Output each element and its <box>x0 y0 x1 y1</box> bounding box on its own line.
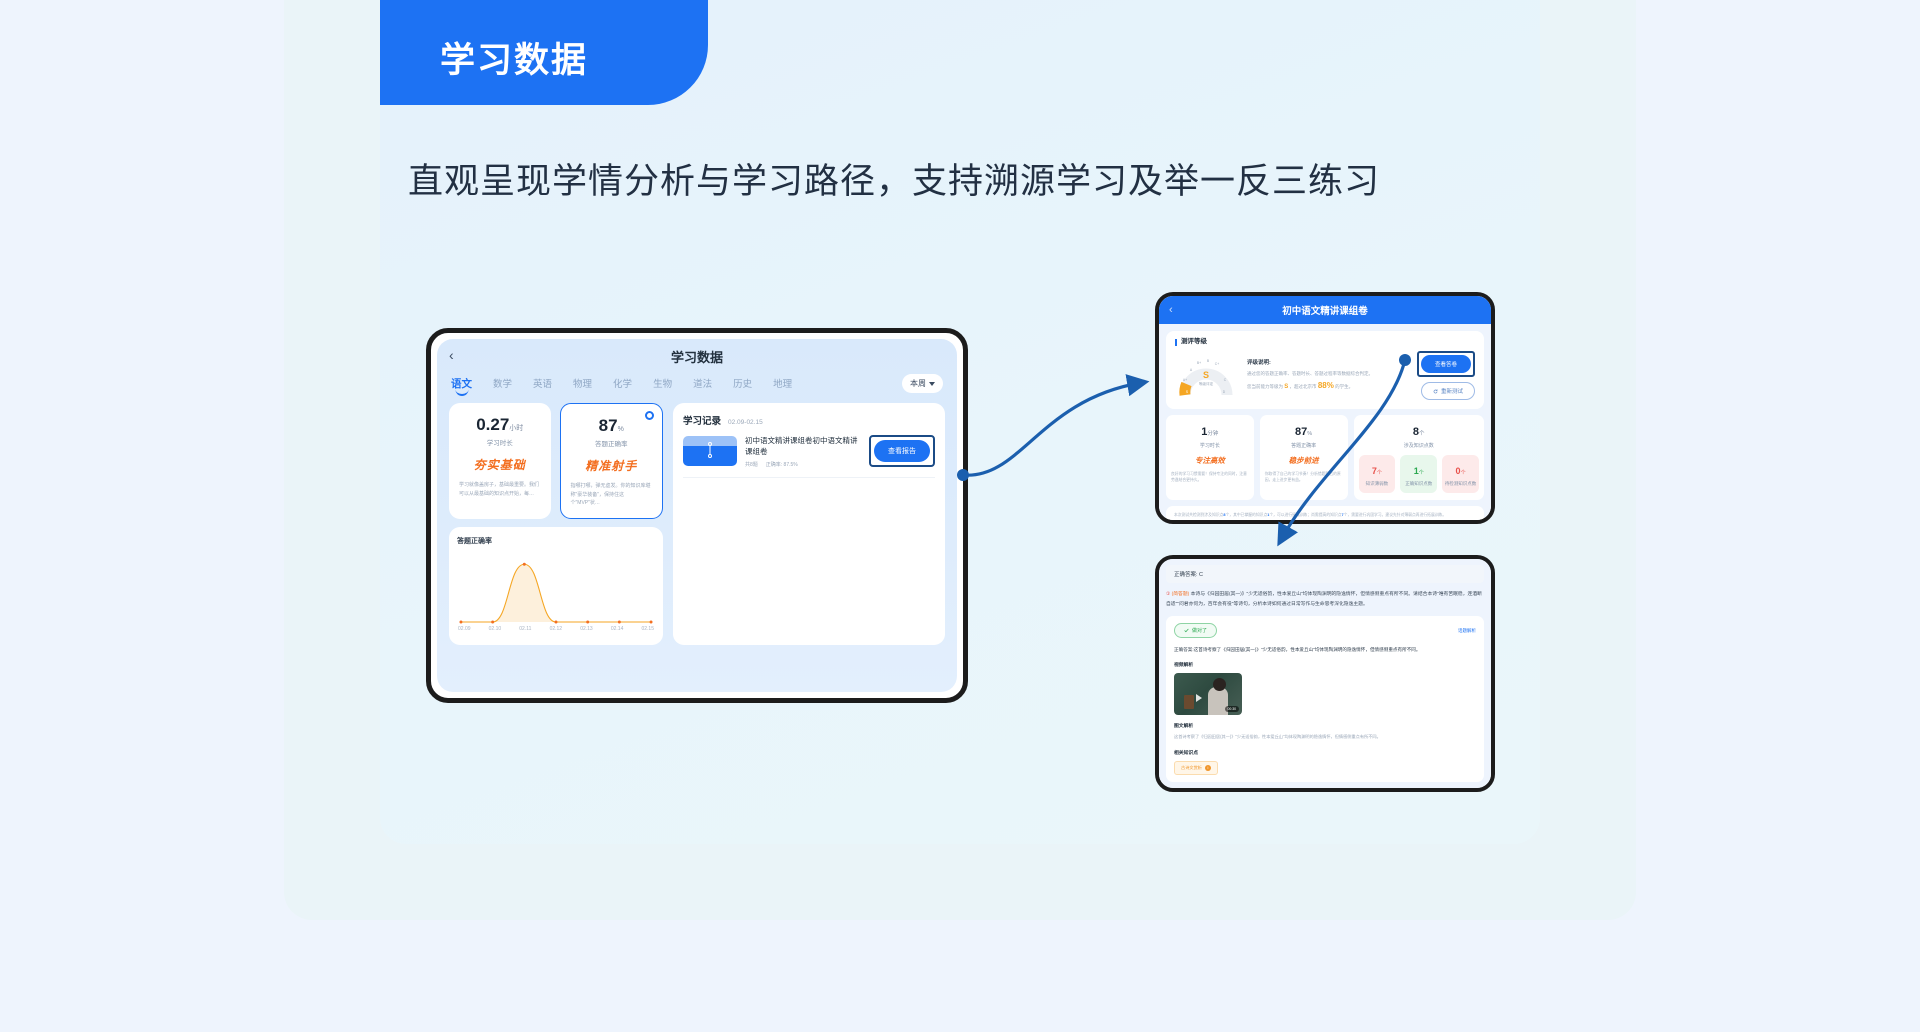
stat-value-row: 87% <box>571 416 653 436</box>
summary-mid-2: 个，可以进行拓展训练；尚需提高的知识点 <box>1269 513 1341 517</box>
explain-post: 的学生。 <box>1335 384 1353 389</box>
metric-description: 你取得了自己的学习节奏！分析错题背后的原因，走上进步更有益。 <box>1265 471 1343 485</box>
view-report-highlight-box: 查看报告 <box>869 435 935 467</box>
status-badge: 做对了 <box>1174 623 1217 638</box>
grade-gauge: S 等级评定 A B+ B C+ A+ C S D <box>1175 351 1237 401</box>
chart-title: 答题正确率 <box>457 536 655 546</box>
video-section-title: 视频解析 <box>1174 661 1476 668</box>
status-badge-label: 做对了 <box>1192 627 1207 634</box>
course-thumbnail <box>683 436 737 466</box>
topic-analysis-link[interactable]: 话题解析 <box>1458 628 1476 634</box>
knowledge-point-label: 古诗文赏析 <box>1181 765 1202 771</box>
chart-point <box>586 620 589 623</box>
metric-tag: 专注高效 <box>1171 455 1249 466</box>
knowledge-point-tag[interactable]: 古诗文赏析 i <box>1174 761 1218 775</box>
selected-ring-icon <box>645 411 654 420</box>
metric-unit: 分钟 <box>1207 431 1218 437</box>
section-badge-label: 学习数据 <box>440 32 588 83</box>
svg-text:C+: C+ <box>1215 362 1219 366</box>
report-header: ‹ 初中语文精讲课组卷 <box>1159 296 1491 324</box>
tablet-screen: ‹ 学习数据 语文 数学 英语 物理 化学 生物 道法 历史 地理 本周 <box>437 339 957 692</box>
knowledge-value-row: 8个 <box>1359 422 1480 440</box>
chart-x-axis: 02.09 02.10 02.11 02.12 02.13 02.14 02.1… <box>457 626 655 632</box>
svg-text:A+: A+ <box>1183 378 1187 382</box>
metric-label: 答题正确率 <box>1265 442 1343 449</box>
stat-description: 指哪打哪，弹无虚发。你的知识库堪称"豪华装备"，保持住这个"MVP"状… <box>571 482 653 508</box>
tab-geography[interactable]: 地理 <box>773 376 792 396</box>
tab-chemistry[interactable]: 化学 <box>613 376 632 396</box>
record-title: 学习记录 <box>683 413 721 427</box>
chart-point <box>459 620 462 623</box>
kp-label: 知识薄弱数 <box>1361 481 1394 487</box>
refresh-icon <box>1433 389 1438 394</box>
answer-explanation: 正确答案:这首诗考察了《归园田居(其一)》"少无适俗韵，性本爱丘山"均体现陶渊明… <box>1174 645 1476 654</box>
record-date-range: 02.09-02.15 <box>728 419 763 426</box>
tab-politics[interactable]: 道法 <box>693 376 712 396</box>
study-record-panel: 学习记录 02.09-02.15 初中语文精讲课组卷初中语文精讲课组卷 共8题 … <box>673 403 945 645</box>
metric-label: 学习时长 <box>1171 442 1249 449</box>
section-headline: 直观呈现学情分析与学习路径，支持溯源学习及举一反三练习 <box>408 155 1498 209</box>
tab-history[interactable]: 历史 <box>733 376 752 396</box>
kp-correct: 1个 正确知识点数 <box>1400 455 1437 493</box>
kp-pending: 0个 待检测知识点数 <box>1442 455 1479 493</box>
text-section-title: 图文解析 <box>1174 722 1476 729</box>
explain-percentile: 88% <box>1318 381 1334 390</box>
tab-english[interactable]: 英语 <box>533 376 552 396</box>
question-number: ① <box>1166 592 1170 597</box>
question-text-block: ① (简答题) 本诗与《归园田居(其一)》"少无适俗韵，性本爱丘山"均体现陶渊明… <box>1166 590 1484 610</box>
stat-description: 学习就像盖房子，基础最重要。我们可以从最基础的知识点开始，每… <box>459 481 541 498</box>
stat-card-accuracy[interactable]: 87% 答题正确率 精准射手 指哪打哪，弹无虚发。你的知识库堪称"豪华装备"，保… <box>560 403 664 519</box>
report-body: 测评等级 S 等级评定 A B+ B C+ A+ C S <box>1159 324 1491 520</box>
tab-biology[interactable]: 生物 <box>653 376 672 396</box>
report-summary-text: 本次测试共检测到涉及知识点8个，其中已掌握的知识点1个，可以进行拓展训练；尚需提… <box>1166 506 1484 525</box>
gauge-svg: S 等级评定 A B+ B C+ A+ C S D <box>1175 351 1237 401</box>
video-duration: 00:30 <box>1225 706 1240 712</box>
x-tick: 02.13 <box>580 626 593 632</box>
svg-text:B: B <box>1207 359 1210 363</box>
retest-label: 重新测试 <box>1441 387 1463 395</box>
metric-card-accuracy: 87% 答题正确率 稳步前进 你取得了自己的学习节奏！分析错题背后的原因，走上进… <box>1260 415 1348 500</box>
x-tick: 02.11 <box>519 626 531 632</box>
view-paper-highlight-box: 查看答卷 <box>1417 351 1475 377</box>
metric-tag: 稳步前进 <box>1265 455 1343 466</box>
grade-card: 测评等级 S 等级评定 A B+ B C+ A+ C S <box>1166 331 1484 409</box>
metric-value-row: 87% <box>1265 422 1343 440</box>
thumb-dot-bottom <box>708 454 712 458</box>
record-name: 初中语文精讲课组卷初中语文精讲课组卷 <box>745 435 861 458</box>
svg-text:S: S <box>1203 370 1209 380</box>
metric-unit: % <box>1307 431 1312 437</box>
explain-mid: ，超过北京市 <box>1290 384 1317 389</box>
text-explanation: 这首诗考察了《归园田居(其一)》"少无适俗韵，性本爱丘山"均体现陶渊明的隐逸情怀… <box>1174 733 1476 741</box>
section-badge: 学习数据 <box>380 0 708 105</box>
knowledge-label: 涉及知识点数 <box>1359 442 1480 449</box>
list-item[interactable]: 初中语文精讲课组卷初中语文精讲课组卷 共8题 正确率: 87.5% 查看报告 <box>683 427 935 478</box>
accuracy-chart-card: 答题正确率 02.09 02.10 02.11 02.12 02.13 02.1… <box>449 527 663 645</box>
video-thumbnail[interactable]: 00:30 <box>1174 673 1242 715</box>
x-tick: 02.09 <box>458 626 471 632</box>
retest-button[interactable]: 重新测试 <box>1421 382 1475 400</box>
svg-text:B+: B+ <box>1197 361 1201 365</box>
page-title: 学习数据 <box>671 347 723 366</box>
kp-unit: 个 <box>1419 470 1424 476</box>
knowledge-section-title: 相关知识点 <box>1174 749 1476 756</box>
stat-value-row: 0.27小时 <box>459 415 541 435</box>
record-question-count: 共8题 <box>745 461 758 468</box>
report-actions: 查看答卷 重新测试 <box>1417 351 1475 400</box>
question-type: (简答题) <box>1172 592 1190 597</box>
record-accuracy: 正确率: 87.5% <box>766 461 798 468</box>
grade-section-title: 测评等级 <box>1175 339 1475 346</box>
explain-pre: 您当前能力等级为 <box>1247 384 1283 389</box>
question-body: 本诗与《归园田居(其一)》"少无适俗韵，性本爱丘山"均体现陶渊明的隐逸情怀，但情… <box>1166 592 1482 607</box>
left-column: 0.27小时 学习时长 夯实基础 学习就像盖房子，基础最重要。我们可以从最基础的… <box>449 403 663 645</box>
tab-chinese[interactable]: 语文 <box>451 376 472 397</box>
metric-card-group: 1分钟 学习时长 专注高效 良好的学习习惯需要！保持专注的同时，注意劳逸结合更持… <box>1166 415 1484 500</box>
stat-label: 答题正确率 <box>571 438 653 448</box>
report-title: 初中语文精讲课组卷 <box>1282 303 1368 317</box>
view-paper-button[interactable]: 查看答卷 <box>1421 355 1471 373</box>
x-tick: 02.10 <box>489 626 502 632</box>
metric-description: 良好的学习习惯需要！保持专注的同时，注意劳逸结合更持久。 <box>1171 471 1249 485</box>
x-tick: 02.14 <box>611 626 624 632</box>
status-row: 做对了 话题解析 <box>1174 623 1476 638</box>
stat-label: 学习时长 <box>459 437 541 447</box>
tab-math[interactable]: 数学 <box>493 376 512 396</box>
stat-tag: 精准射手 <box>571 457 653 474</box>
summary-mid-1: 个，其中已掌握的知识点 <box>1225 513 1267 517</box>
chart-point <box>491 620 494 623</box>
kp-unit: 个 <box>1377 470 1382 476</box>
record-header: 学习记录 02.09-02.15 <box>683 413 935 427</box>
metric-card-knowledge: 8个 涉及知识点数 7个 知识薄弱数 1个 正确知识点数 0个 待检测知识点数 <box>1354 415 1485 500</box>
record-meta: 共8题 正确率: 87.5% <box>745 461 861 468</box>
x-tick: 02.15 <box>641 626 654 632</box>
period-filter-dropdown[interactable]: 本周 <box>902 374 943 393</box>
metric-card-study-time: 1分钟 学习时长 专注高效 良好的学习习惯需要！保持专注的同时，注意劳逸结合更持… <box>1166 415 1254 500</box>
svg-text:等级评定: 等级评定 <box>1199 381 1214 386</box>
tab-physics[interactable]: 物理 <box>573 376 592 396</box>
back-icon[interactable]: ‹ <box>1169 304 1173 316</box>
stat-unit: % <box>618 426 624 433</box>
answer-detail-card: 做对了 话题解析 正确答案:这首诗考察了《归园田居(其一)》"少无适俗韵，性本爱… <box>1166 616 1484 782</box>
stat-value: 0.27 <box>476 415 509 434</box>
accuracy-area-chart <box>457 548 655 626</box>
tablet-content: 0.27小时 学习时长 夯实基础 学习就像盖房子，基础最重要。我们可以从最基础的… <box>437 397 957 655</box>
chalkboard-prop <box>1184 695 1194 709</box>
tablet-device: ‹ 学习数据 语文 数学 英语 物理 化学 生物 道法 历史 地理 本周 <box>426 328 968 703</box>
chart-point <box>523 562 526 565</box>
knowledge-unit: 个 <box>1419 431 1425 437</box>
stat-value: 87 <box>599 416 618 435</box>
chart-point <box>618 620 621 623</box>
check-icon <box>1184 628 1189 633</box>
back-icon[interactable]: ‹ <box>449 348 454 362</box>
report-phone-device: ‹ 初中语文精讲课组卷 测评等级 S 等级评定 A B+ B C+ A+ <box>1155 292 1495 524</box>
detail-body: 正确答案: C ① (简答题) 本诗与《归园田居(其一)》"少无适俗韵，性本爱丘… <box>1159 559 1491 788</box>
kp-unit: 个 <box>1461 470 1466 476</box>
detail-phone-device: 正确答案: C ① (简答题) 本诗与《归园田居(其一)》"少无适俗韵，性本爱丘… <box>1155 555 1495 792</box>
kp-label: 待检测知识点数 <box>1444 481 1477 487</box>
kp-label: 正确知识点数 <box>1402 481 1435 487</box>
summary-post: 个，需要进行巩固学习。建议先针对薄弱点再进行拓展训练。 <box>1344 513 1447 517</box>
chart-point <box>650 620 653 623</box>
chart-point <box>555 620 558 623</box>
view-report-button[interactable]: 查看报告 <box>874 440 930 462</box>
stat-card-study-time[interactable]: 0.27小时 学习时长 夯实基础 学习就像盖房子，基础最重要。我们可以从最基础的… <box>449 403 551 519</box>
metric-value: 87 <box>1295 426 1307 438</box>
metric-value-row: 1分钟 <box>1171 422 1249 440</box>
svg-text:A: A <box>1190 368 1193 372</box>
knowledge-breakdown: 7个 知识薄弱数 1个 正确知识点数 0个 待检测知识点数 <box>1359 455 1480 493</box>
summary-pre: 本次测试共检测到涉及知识点 <box>1174 513 1223 517</box>
stat-card-group: 0.27小时 学习时长 夯实基础 学习就像盖房子，基础最重要。我们可以从最基础的… <box>449 403 663 519</box>
period-filter-label: 本周 <box>910 378 926 389</box>
stat-tag: 夯实基础 <box>459 456 541 473</box>
thumb-dot-top <box>708 442 712 446</box>
correct-answer-bar: 正确答案: C <box>1166 565 1484 583</box>
kp-weak: 7个 知识薄弱数 <box>1359 455 1396 493</box>
x-tick: 02.12 <box>550 626 563 632</box>
play-icon[interactable] <box>1196 694 1202 702</box>
explain-grade: S <box>1284 384 1288 390</box>
subject-tabs: 语文 数学 英语 物理 化学 生物 道法 历史 地理 本周 <box>437 373 957 397</box>
stat-unit: 小时 <box>509 425 523 432</box>
tablet-topbar: ‹ 学习数据 <box>437 339 957 373</box>
chevron-down-icon <box>929 382 935 386</box>
info-icon: i <box>1205 765 1211 771</box>
record-info: 初中语文精讲课组卷初中语文精讲课组卷 共8题 正确率: 87.5% <box>745 435 861 468</box>
